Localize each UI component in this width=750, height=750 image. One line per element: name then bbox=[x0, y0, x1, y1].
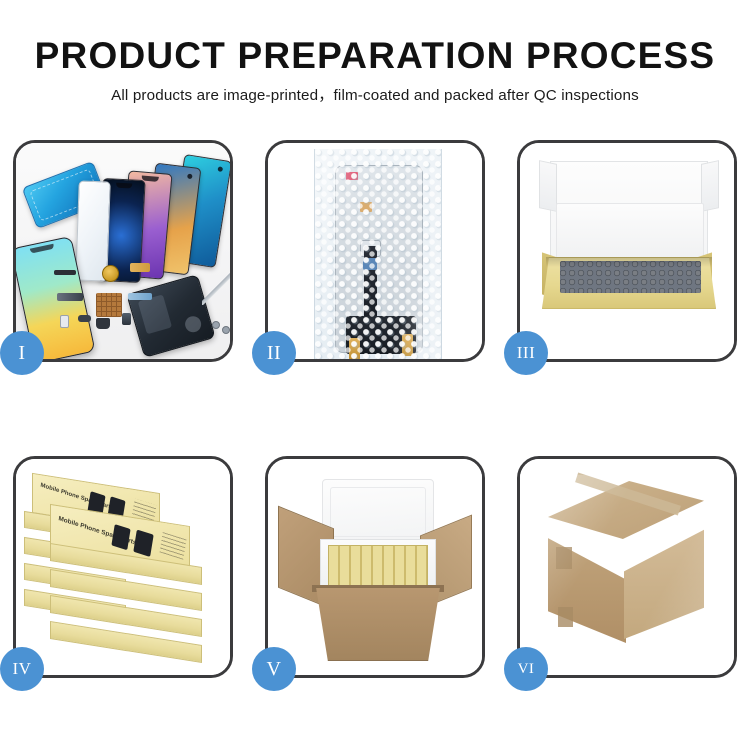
flex-cable-blue-icon bbox=[128, 293, 152, 300]
carton-tape-upper bbox=[556, 547, 572, 569]
flex-cable-gold-icon bbox=[130, 263, 150, 272]
step-panel-3[interactable]: III bbox=[517, 140, 737, 362]
carton-open-scene bbox=[268, 459, 482, 675]
copper-coil-part-icon bbox=[102, 265, 119, 282]
step-badge-2: II bbox=[252, 331, 296, 375]
tweezers-icon bbox=[202, 269, 230, 305]
battery-connector-part-icon bbox=[122, 313, 131, 325]
gold-tab-right-icon bbox=[402, 334, 413, 356]
gold-tab-left-icon bbox=[349, 338, 360, 359]
step-badge-4: IV bbox=[0, 647, 44, 691]
step-panel-5[interactable]: V bbox=[265, 456, 485, 678]
open-box-scene bbox=[520, 143, 734, 359]
page-subtitle: All products are image-printed，film-coat… bbox=[0, 85, 750, 107]
speaker-bar-part-icon bbox=[54, 270, 76, 275]
step-image-3 bbox=[520, 143, 734, 359]
step-badge-6: VI bbox=[504, 647, 548, 691]
screws-icon bbox=[212, 321, 230, 333]
flex-cable-grey-icon bbox=[57, 293, 83, 301]
step-panel-6[interactable]: VI bbox=[517, 456, 737, 678]
button-part-icon bbox=[78, 315, 91, 322]
carton-tape-lower bbox=[558, 607, 573, 627]
driver-chip-icon bbox=[363, 258, 377, 270]
foam-lid bbox=[322, 479, 434, 545]
phone-parts-scene bbox=[16, 143, 230, 359]
earpiece-part-icon bbox=[96, 318, 110, 329]
bubble-bag-scene bbox=[268, 143, 482, 359]
red-label-tab bbox=[346, 172, 358, 180]
process-steps-grid: I bbox=[0, 138, 750, 698]
step-image-4: Mobile Phone Spare Parts Mobile Phone Sp… bbox=[16, 459, 230, 675]
yellow-boxes-inside bbox=[328, 545, 428, 587]
tape-strip-icon bbox=[360, 202, 372, 212]
step-badge-1: I bbox=[0, 331, 44, 375]
step-badge-5: V bbox=[252, 647, 296, 691]
foam-sheet bbox=[556, 203, 704, 261]
sim-tray-part-icon bbox=[60, 315, 69, 328]
carton-body bbox=[312, 587, 444, 661]
step-image-6 bbox=[520, 459, 734, 675]
chip-grid-part-icon bbox=[96, 293, 122, 317]
step-image-5 bbox=[268, 459, 482, 675]
box-inner-shadow bbox=[546, 257, 712, 267]
step-image-1 bbox=[16, 143, 230, 359]
box-window bbox=[133, 529, 153, 556]
packed-phone-screen bbox=[335, 165, 423, 353]
page-title: PRODUCT PREPARATION PROCESS bbox=[0, 34, 750, 78]
box-window bbox=[111, 524, 130, 550]
bubble-wrap-bag bbox=[314, 149, 442, 359]
sealed-carton-scene bbox=[520, 459, 734, 675]
step-panel-4[interactable]: Mobile Phone Spare Parts Mobile Phone Sp… bbox=[13, 456, 233, 678]
step-panel-2[interactable]: II bbox=[265, 140, 485, 362]
step-image-2 bbox=[268, 143, 482, 359]
step-panel-1[interactable]: I bbox=[13, 140, 233, 362]
stacked-boxes-scene: Mobile Phone Spare Parts Mobile Phone Sp… bbox=[16, 459, 230, 675]
step-badge-3: III bbox=[504, 331, 548, 375]
page-header: PRODUCT PREPARATION PROCESS All products… bbox=[0, 0, 750, 107]
